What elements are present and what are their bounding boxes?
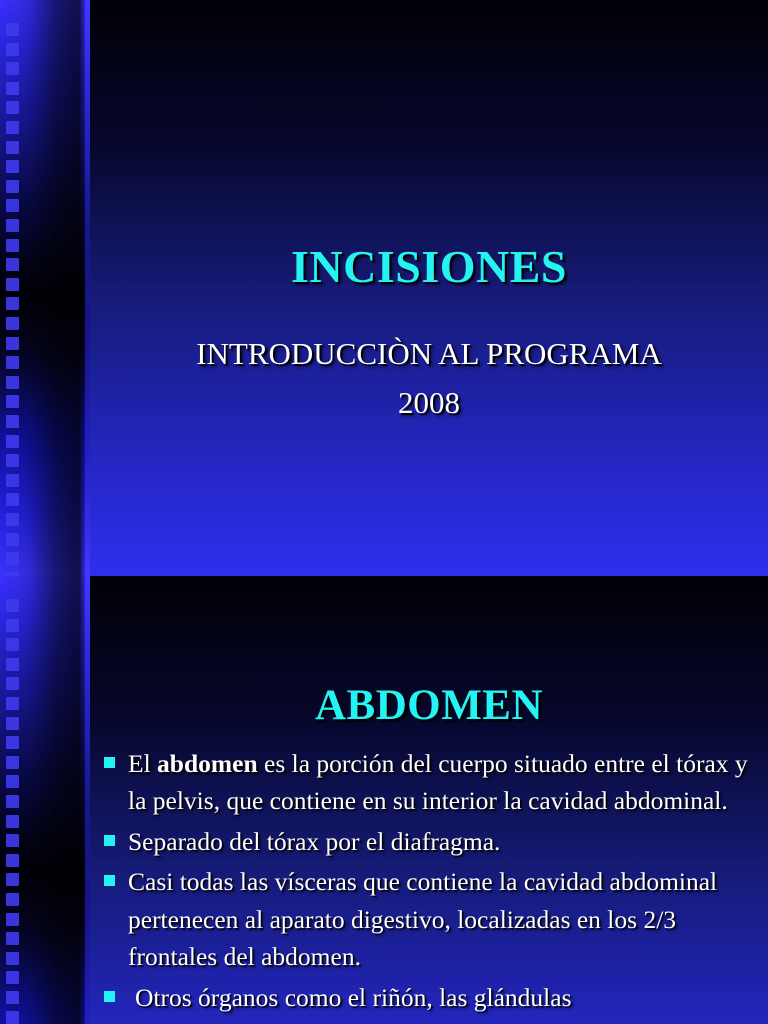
sidebar-square bbox=[6, 513, 19, 526]
sidebar-square bbox=[6, 775, 19, 788]
sidebar-square bbox=[6, 834, 19, 847]
sidebar-square bbox=[6, 258, 19, 271]
sidebar-square bbox=[6, 180, 19, 193]
list-item: Otros órganos como el riñón, las glándul… bbox=[104, 979, 750, 1016]
slide-title: INCISIONES INTRODUCCIÒN AL PROGRAMA 2008 bbox=[0, 0, 768, 576]
sidebar-square bbox=[6, 474, 19, 487]
page-title: INCISIONES bbox=[90, 243, 768, 291]
sidebar-square bbox=[6, 533, 19, 546]
sidebar-square bbox=[6, 415, 19, 428]
sidebar-square bbox=[6, 619, 19, 632]
list-item-text: Otros órganos como el riñón, las glándul… bbox=[128, 979, 750, 1016]
sidebar-square bbox=[6, 454, 19, 467]
list-item-text: Casi todas las vísceras que contiene la … bbox=[128, 863, 750, 975]
sidebar-square bbox=[6, 297, 19, 310]
sidebar-square bbox=[6, 658, 19, 671]
sidebar-square bbox=[6, 552, 19, 565]
sidebar-square bbox=[6, 815, 19, 828]
sidebar-square bbox=[6, 337, 19, 350]
sidebar-square bbox=[6, 952, 19, 965]
sidebar-square bbox=[6, 239, 19, 252]
sidebar-square bbox=[6, 493, 19, 506]
sidebar-square bbox=[6, 376, 19, 389]
list-item: El abdomen es la porción del cuerpo situ… bbox=[104, 745, 750, 820]
sidebar-square bbox=[6, 356, 19, 369]
sidebar-square bbox=[6, 43, 19, 56]
sidebar-square bbox=[6, 638, 19, 651]
sidebar-square bbox=[6, 141, 19, 154]
sidebar-square-strip bbox=[6, 576, 20, 1024]
bullet-list: El abdomen es la porción del cuerpo situ… bbox=[104, 745, 750, 1019]
list-item-text: Separado del tórax por el diafragma. bbox=[128, 823, 750, 860]
bullet-square-icon bbox=[104, 991, 115, 1002]
sidebar-square bbox=[6, 756, 19, 769]
sidebar-accent-line bbox=[85, 0, 90, 576]
sidebar-square bbox=[6, 736, 19, 749]
sidebar-square bbox=[6, 160, 19, 173]
sidebar-square bbox=[6, 23, 19, 36]
sidebar-decoration bbox=[0, 0, 90, 576]
sidebar-square bbox=[6, 435, 19, 448]
bullet-square-icon bbox=[104, 757, 115, 768]
list-item: Casi todas las vísceras que contiene la … bbox=[104, 863, 750, 975]
sidebar-square bbox=[6, 873, 19, 886]
sidebar-square bbox=[6, 717, 19, 730]
section-heading: ABDOMEN bbox=[90, 681, 768, 730]
sidebar-square bbox=[6, 317, 19, 330]
sidebar-square-strip bbox=[6, 0, 20, 576]
sidebar-square bbox=[6, 219, 19, 232]
sidebar-square bbox=[6, 599, 19, 612]
sidebar-square bbox=[6, 101, 19, 114]
subtitle-line-2: 2008 bbox=[90, 379, 768, 428]
sidebar-square bbox=[6, 395, 19, 408]
emphasis-term: abdomen bbox=[157, 749, 258, 778]
list-item: Separado del tórax por el diafragma. bbox=[104, 823, 750, 860]
sidebar-square bbox=[6, 121, 19, 134]
sidebar-decoration bbox=[0, 576, 90, 1024]
presentation-page: INCISIONES INTRODUCCIÒN AL PROGRAMA 2008… bbox=[0, 0, 768, 1024]
sidebar-square bbox=[6, 854, 19, 867]
sidebar-square bbox=[6, 677, 19, 690]
subtitle-line-1: INTRODUCCIÒN AL PROGRAMA bbox=[90, 330, 768, 379]
sidebar-square bbox=[6, 199, 19, 212]
bullet-square-icon bbox=[104, 835, 115, 846]
sidebar-square bbox=[6, 82, 19, 95]
sidebar-square bbox=[6, 697, 19, 710]
sidebar-square bbox=[6, 913, 19, 926]
sidebar-square bbox=[6, 971, 19, 984]
sidebar-square bbox=[6, 1011, 19, 1024]
sidebar-square bbox=[6, 991, 19, 1004]
bullet-square-icon bbox=[104, 875, 115, 886]
list-item-text: El abdomen es la porción del cuerpo situ… bbox=[128, 745, 750, 820]
sidebar-square bbox=[6, 62, 19, 75]
sidebar-square bbox=[6, 893, 19, 906]
sidebar-accent-line bbox=[85, 576, 90, 1024]
sidebar-square bbox=[6, 278, 19, 291]
subtitle-block: INTRODUCCIÒN AL PROGRAMA 2008 bbox=[90, 330, 768, 428]
sidebar-square bbox=[6, 795, 19, 808]
sidebar-square bbox=[6, 932, 19, 945]
